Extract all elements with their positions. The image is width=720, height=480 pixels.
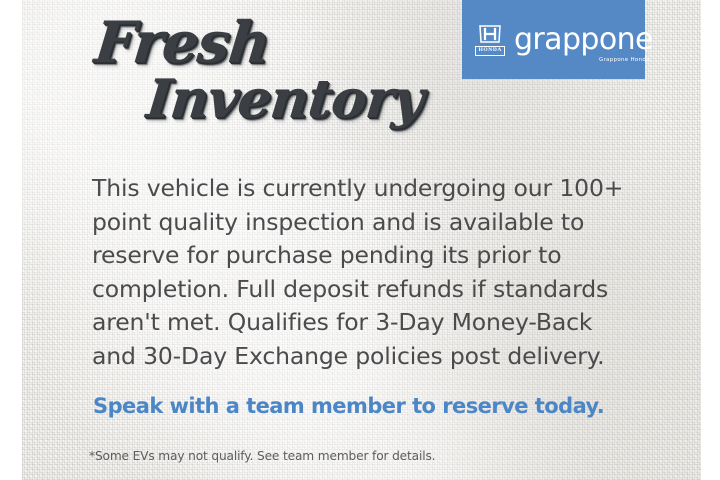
honda-wordmark: HONDA <box>475 46 505 56</box>
grappone-lockup: grappone Grappone Honda <box>514 24 653 55</box>
body-copy: This vehicle is currently undergoing our… <box>92 172 632 374</box>
body-line: reserve for purchase pending its prior t… <box>92 239 632 273</box>
grappone-wordmark: grappone <box>514 26 653 55</box>
grappone-tagline: Grappone Honda <box>599 57 650 63</box>
grappone-honda-brand-block: HONDA grappone Grappone Honda <box>462 0 645 79</box>
body-line: and 30-Day Exchange policies post delive… <box>92 340 632 374</box>
headline-line-fresh: Fresh <box>92 14 398 71</box>
honda-logo: HONDA <box>475 24 505 56</box>
body-line: This vehicle is currently undergoing our… <box>92 172 632 206</box>
cta-text: Speak with a team member to reserve toda… <box>93 394 604 418</box>
body-line: aren't met. Qualifies for 3-Day Money-Ba… <box>92 306 632 340</box>
body-line: point quality inspection and is availabl… <box>92 206 632 240</box>
page-title: Fresh Inventory <box>92 14 392 126</box>
body-line: completion. Full deposit refunds if stan… <box>92 273 632 307</box>
fresh-inventory-card: HONDA grappone Grappone Honda Fresh Inve… <box>0 0 720 480</box>
footnote-disclaimer: *Some EVs may not qualify. See team memb… <box>89 449 435 464</box>
left-white-margin <box>0 0 22 480</box>
headline-line-inventory: Inventory <box>144 73 398 126</box>
honda-emblem-icon <box>477 24 503 44</box>
right-white-margin <box>701 0 720 480</box>
